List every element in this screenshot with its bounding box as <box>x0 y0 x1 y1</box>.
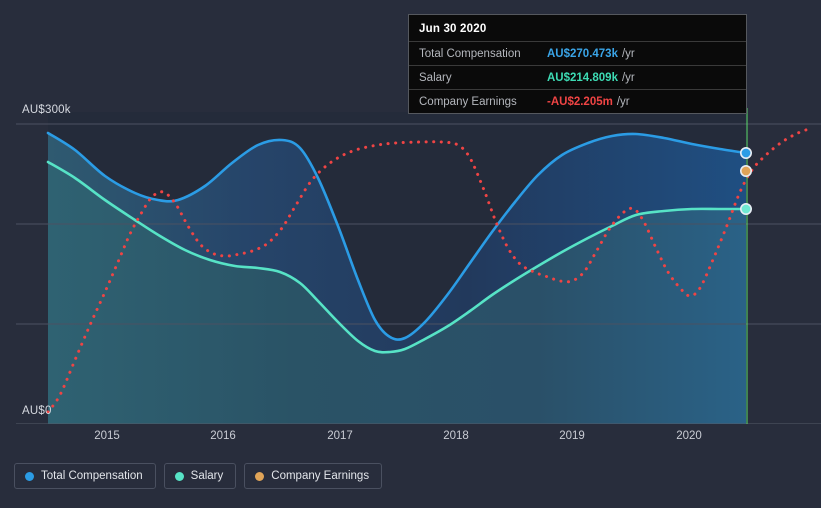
compensation-chart: AU$300k AU$0 201520162017201820192020 Ju… <box>0 0 821 508</box>
data-point-marker[interactable] <box>741 148 751 158</box>
legend-color-dot <box>255 472 264 481</box>
x-axis-tick-2020: 2020 <box>676 430 702 442</box>
legend-item-salary[interactable]: Salary <box>164 463 237 489</box>
tooltip-row-unit: /yr <box>617 96 630 108</box>
legend-color-dot <box>175 472 184 481</box>
tooltip-row: Company Earnings-AU$2.205m/yr <box>409 89 746 113</box>
tooltip-row-value: AU$270.473k <box>547 48 618 60</box>
y-axis-label-min: AU$0 <box>22 405 52 417</box>
legend-item-label: Company Earnings <box>271 470 369 482</box>
data-point-marker[interactable] <box>741 204 751 214</box>
tooltip-row-unit: /yr <box>622 48 635 60</box>
tooltip-row-label: Total Compensation <box>419 48 547 60</box>
x-axis-tick-2016: 2016 <box>210 430 236 442</box>
tooltip-row-value: AU$214.809k <box>547 72 618 84</box>
legend-item-label: Salary <box>191 470 224 482</box>
data-point-marker[interactable] <box>741 166 751 176</box>
tooltip-row: SalaryAU$214.809k/yr <box>409 65 746 89</box>
legend-item-total-compensation[interactable]: Total Compensation <box>14 463 156 489</box>
tooltip-row-value: -AU$2.205m <box>547 96 613 108</box>
legend-item-label: Total Compensation <box>41 470 143 482</box>
x-axis-tick-2019: 2019 <box>559 430 585 442</box>
tooltip-row-label: Salary <box>419 72 547 84</box>
tooltip-row-unit: /yr <box>622 72 635 84</box>
x-axis-tick-2015: 2015 <box>94 430 120 442</box>
x-axis-tick-2017: 2017 <box>327 430 353 442</box>
tooltip-row-label: Company Earnings <box>419 96 547 108</box>
chart-legend[interactable]: Total CompensationSalaryCompany Earnings <box>14 463 382 489</box>
tooltip-date: Jun 30 2020 <box>409 15 746 41</box>
x-axis-tick-2018: 2018 <box>443 430 469 442</box>
legend-color-dot <box>25 472 34 481</box>
tooltip-row: Total CompensationAU$270.473k/yr <box>409 41 746 65</box>
legend-item-company-earnings[interactable]: Company Earnings <box>244 463 382 489</box>
chart-tooltip: Jun 30 2020 Total CompensationAU$270.473… <box>408 14 747 114</box>
tooltip-rows: Total CompensationAU$270.473k/yrSalaryAU… <box>409 41 746 113</box>
y-axis-label-max: AU$300k <box>22 104 71 116</box>
